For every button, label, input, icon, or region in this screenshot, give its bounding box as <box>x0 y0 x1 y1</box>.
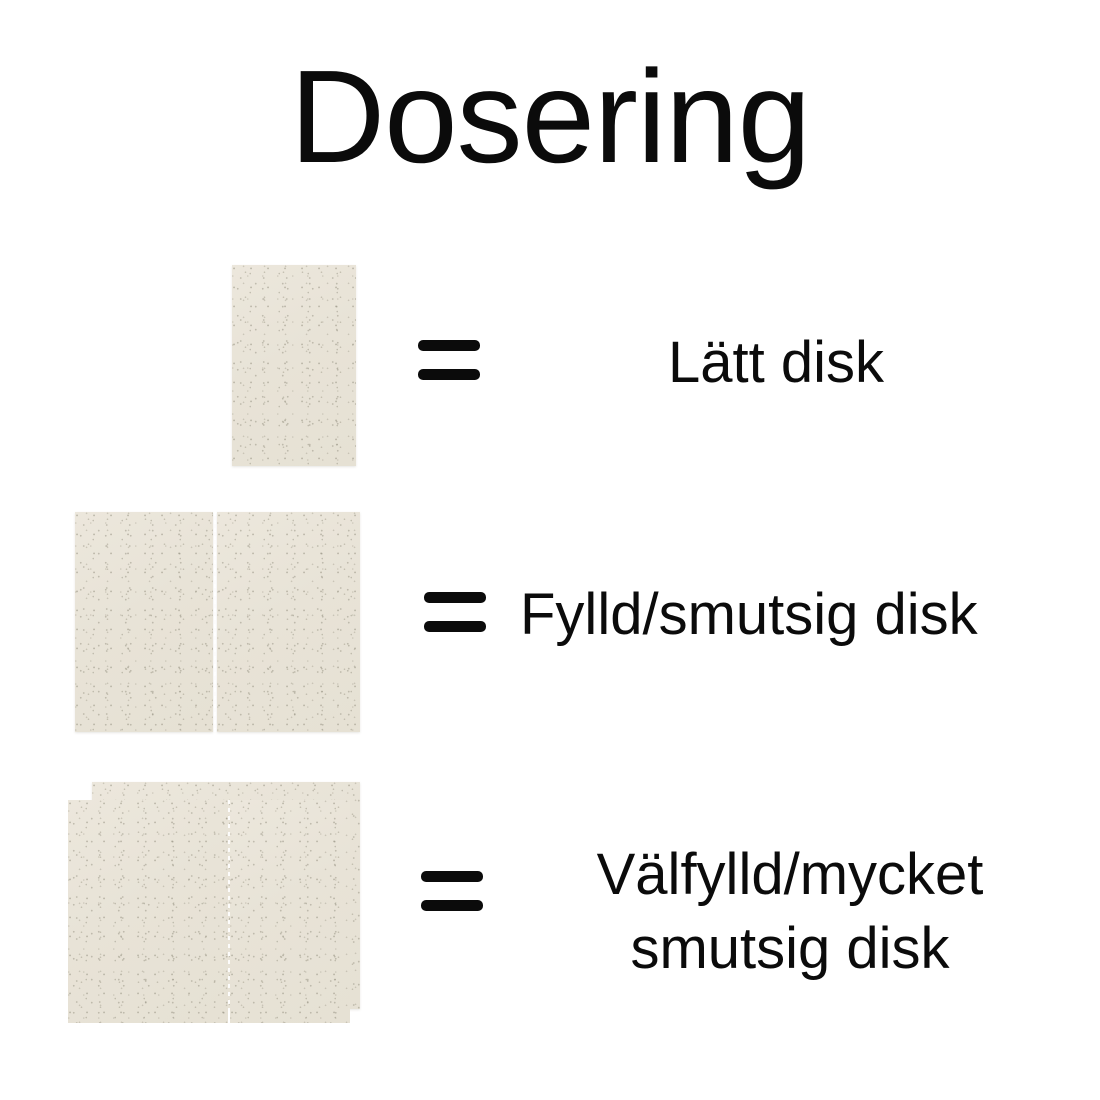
equals-icon-row-2 <box>424 592 486 632</box>
tablet-whole-right-half <box>217 512 360 732</box>
equals-icon-row-1 <box>418 340 480 380</box>
tablet-score-line-row-3 <box>228 800 230 1023</box>
equals-bar-top <box>424 592 486 603</box>
equals-bar-bottom <box>418 369 480 380</box>
equals-bar-bottom <box>424 621 486 632</box>
page-title: Dosering <box>0 48 1100 187</box>
tablet-stacked-front-left-half <box>68 800 228 1023</box>
tablet-whole-left-half <box>75 512 213 732</box>
tablet-stacked-front-right-half <box>230 800 350 1023</box>
dosage-label-heavy-load: Välfylld/mycket smutsig disk <box>510 838 1070 986</box>
tablet-score-line-row-2 <box>214 512 216 732</box>
equals-bar-top <box>421 871 483 882</box>
equals-bar-bottom <box>421 900 483 911</box>
dosage-infographic: Dosering Lätt disk Fylld/smutsig disk <box>0 0 1100 1100</box>
dosage-label-heavy-load-line-1: Välfylld/mycket <box>597 842 984 907</box>
dosage-label-light-load: Lätt disk <box>668 326 884 400</box>
equals-icon-row-3 <box>421 871 483 911</box>
equals-bar-top <box>418 340 480 351</box>
dosage-label-full-load: Fylld/smutsig disk <box>520 578 978 652</box>
dosage-label-heavy-load-line-2: smutsig disk <box>630 916 949 981</box>
tablet-single-half <box>232 265 356 466</box>
